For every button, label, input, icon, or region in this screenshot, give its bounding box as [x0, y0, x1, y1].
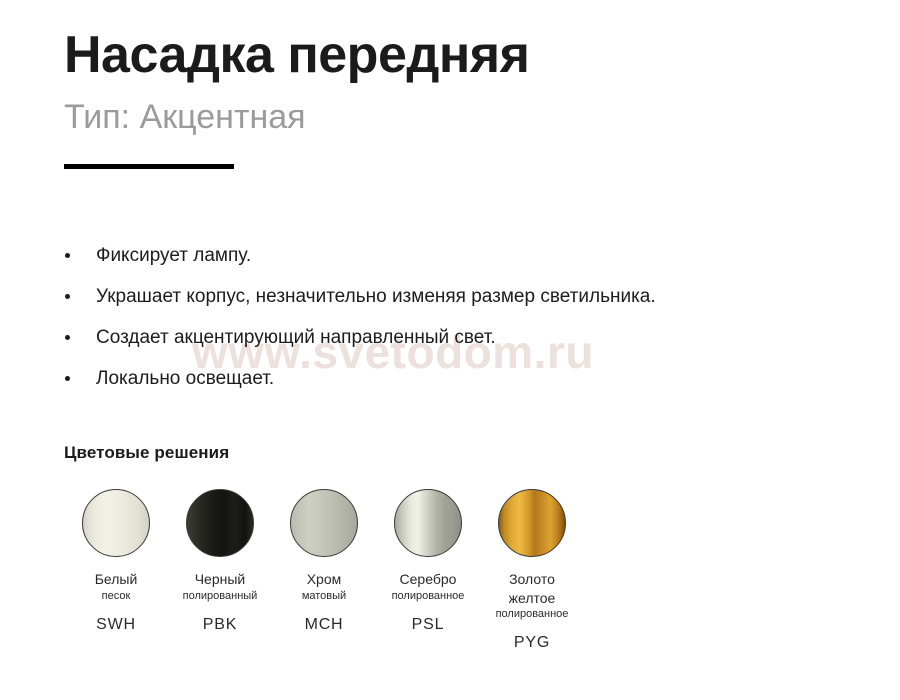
bullet-dot-icon [65, 335, 70, 340]
swatch-circle-icon[interactable] [498, 489, 566, 557]
bullet-dot-icon [65, 294, 70, 299]
color-swatch-row: Белый песок SWH Черный полированный PBK … [64, 489, 584, 652]
bullet-dot-icon [65, 376, 70, 381]
feature-text: Создает акцентирующий направленный свет. [96, 327, 496, 348]
list-item: Создает акцентирующий направленный свет. [64, 328, 656, 347]
color-swatch-psl[interactable]: Серебро полированное PSL [376, 489, 480, 634]
swatch-circle-icon[interactable] [394, 489, 462, 557]
color-options-section: Цветовые решения Белый песок SWH Черный … [64, 443, 584, 652]
list-item: Украшает корпус, незначительно изменяя р… [64, 287, 656, 306]
swatch-code: PYG [514, 634, 550, 652]
header-divider [64, 164, 234, 169]
swatch-name-main: Белый [95, 571, 138, 587]
swatch-circle-icon[interactable] [82, 489, 150, 557]
swatch-name: Хром матовый [302, 571, 346, 603]
list-item: Фиксирует лампу. [64, 246, 656, 265]
swatch-name-main: Черный [195, 571, 246, 587]
swatch-name-main: Хром [307, 571, 342, 587]
color-swatch-pbk[interactable]: Черный полированный PBK [168, 489, 272, 634]
swatch-name-main: Серебро [400, 571, 457, 587]
swatch-code: SWH [96, 616, 136, 634]
swatch-name-sub2: полированное [496, 607, 569, 621]
swatch-name: Золото желтое полированное [496, 571, 569, 621]
swatch-code: PBK [203, 616, 237, 634]
feature-list: Фиксирует лампу. Украшает корпус, незнач… [64, 246, 656, 388]
color-options-heading: Цветовые решения [64, 443, 584, 463]
page-header: Насадка передняя Тип: Акцентная [64, 28, 529, 169]
page-title: Насадка передняя [64, 28, 529, 83]
swatch-name-sub: желтое [496, 589, 569, 607]
feature-text: Фиксирует лампу. [96, 245, 251, 266]
product-spec-page: www.svetodom.ru Насадка передняя Тип: Ак… [0, 0, 900, 700]
swatch-name-sub: песок [95, 589, 138, 603]
color-swatch-swh[interactable]: Белый песок SWH [64, 489, 168, 634]
page-subtitle: Тип: Акцентная [64, 99, 529, 136]
swatch-circle-icon[interactable] [290, 489, 358, 557]
swatch-name: Белый песок [95, 571, 138, 603]
swatch-name: Черный полированный [183, 571, 258, 603]
feature-text: Украшает корпус, незначительно изменяя р… [96, 286, 656, 307]
feature-text: Локально освещает. [96, 368, 274, 389]
swatch-code: MCH [305, 616, 344, 634]
bullet-dot-icon [65, 253, 70, 258]
list-item: Локально освещает. [64, 369, 656, 388]
swatch-code: PSL [412, 616, 445, 634]
color-swatch-pyg[interactable]: Золото желтое полированное PYG [480, 489, 584, 652]
swatch-name-sub: матовый [302, 589, 346, 603]
swatch-name-sub: полированный [183, 589, 258, 603]
swatch-name-main: Золото [509, 571, 555, 587]
swatch-name: Серебро полированное [392, 571, 465, 603]
swatch-circle-icon[interactable] [186, 489, 254, 557]
swatch-name-sub: полированное [392, 589, 465, 603]
color-swatch-mch[interactable]: Хром матовый MCH [272, 489, 376, 634]
